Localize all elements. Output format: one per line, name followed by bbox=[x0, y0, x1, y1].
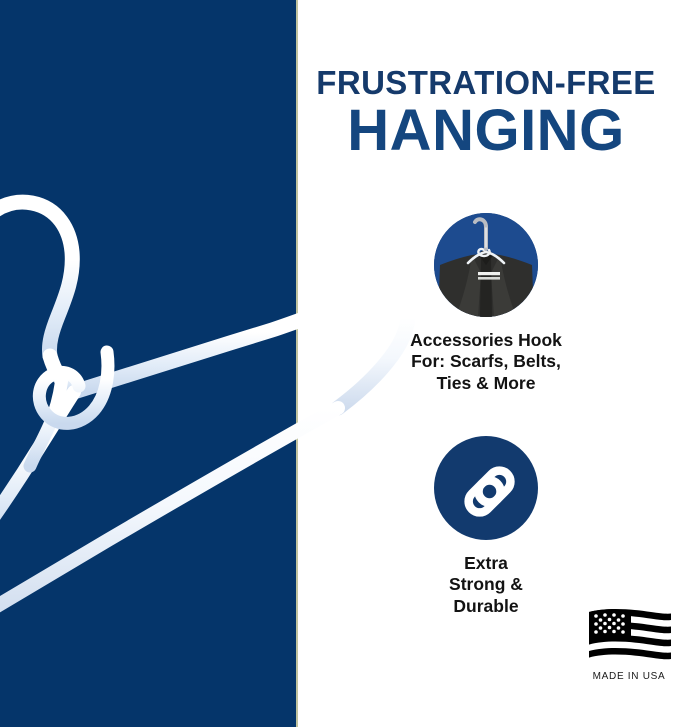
caption-line: Accessories Hook bbox=[300, 330, 672, 351]
headline-block: FRUSTRATION-FREE HANGING bbox=[300, 66, 672, 160]
chain-link-icon bbox=[434, 436, 538, 540]
chain-illustration bbox=[434, 436, 538, 540]
made-in-usa-badge: MADE IN USA bbox=[585, 608, 673, 682]
feature-caption: Accessories Hook For: Scarfs, Belts, Tie… bbox=[300, 330, 672, 394]
feature-extra-strong-durable: Extra Strong & Durable bbox=[300, 436, 672, 617]
made-in-usa-label: MADE IN USA bbox=[585, 671, 673, 682]
navy-background-panel bbox=[0, 0, 296, 727]
headline-line-top: FRUSTRATION-FREE bbox=[300, 66, 672, 99]
headline-line-main: HANGING bbox=[300, 101, 672, 160]
product-feature-image: FRUSTRATION-FREE HANGING bbox=[0, 0, 679, 727]
caption-line: For: Scarfs, Belts, bbox=[300, 351, 672, 372]
jacket-illustration bbox=[434, 213, 538, 317]
usa-flag-icon bbox=[585, 608, 673, 666]
caption-line: Strong & bbox=[300, 574, 672, 595]
caption-line: Ties & More bbox=[300, 373, 672, 394]
feature-accessories-hook: Accessories Hook For: Scarfs, Belts, Tie… bbox=[300, 213, 672, 394]
jacket-on-hanger-icon bbox=[434, 213, 538, 317]
panel-edge-divider bbox=[296, 0, 298, 727]
caption-line: Extra bbox=[300, 553, 672, 574]
